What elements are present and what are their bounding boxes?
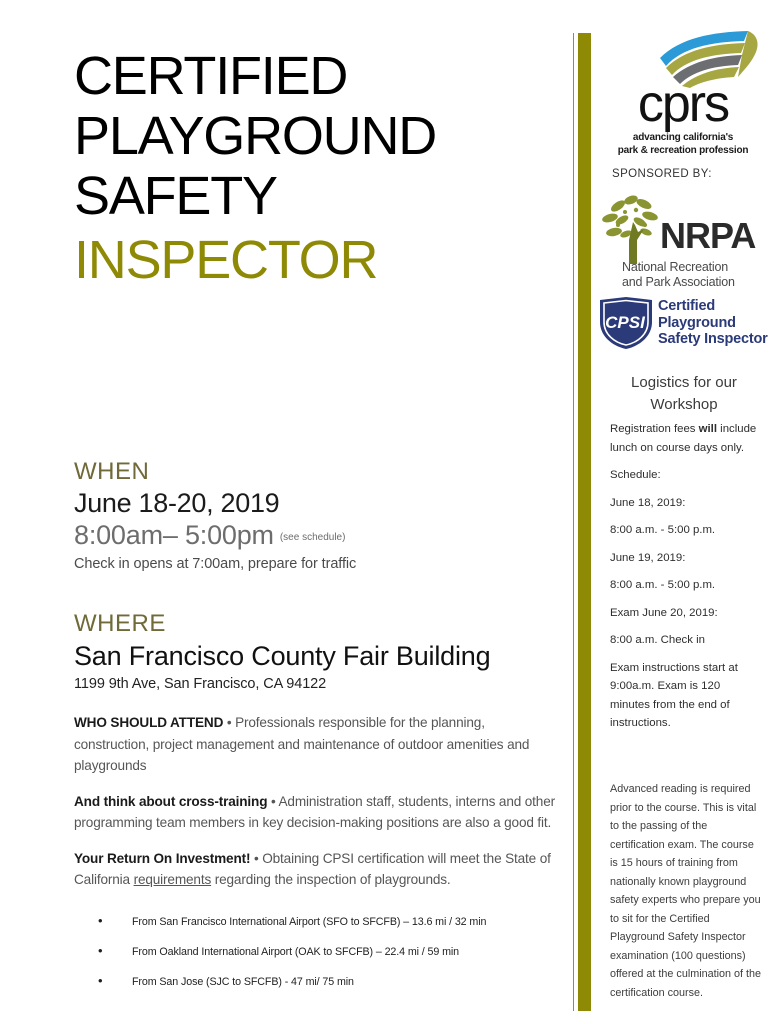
nrpa-subtitle: National Recreation and Park Association xyxy=(598,260,770,289)
paragraph-cross-training: And think about cross-training • Adminis… xyxy=(74,791,561,834)
logistics-body: Registration fees will include lunch on … xyxy=(610,420,760,742)
list-item: From San Francisco International Airport… xyxy=(92,915,562,929)
logistics-item: June 19, 2019: xyxy=(610,549,760,568)
logistics-title-line1: Logistics for our xyxy=(602,372,766,394)
logistics-title-line2: Workshop xyxy=(602,394,766,416)
svg-text:CPSI: CPSI xyxy=(605,313,646,332)
logistics-item-bold: will xyxy=(699,423,717,435)
page-title: CERTIFIED PLAYGROUND SAFETY INSPECTOR xyxy=(74,46,554,290)
cprs-tagline-line2: park & recreation profession xyxy=(596,145,770,158)
flyer-page: CERTIFIED PLAYGROUND SAFETY INSPECTOR WH… xyxy=(0,0,770,1024)
advanced-reading-note: Advanced reading is required prior to th… xyxy=(610,780,762,1002)
left-column: CERTIFIED PLAYGROUND SAFETY INSPECTOR WH… xyxy=(0,0,575,1024)
logistics-item: 8:00 a.m. - 5:00 p.m. xyxy=(610,576,760,595)
list-item: From San Jose (SJC to SFCFB) - 47 mi/ 75… xyxy=(92,975,562,989)
logistics-item: Exam June 20, 2019: xyxy=(610,604,760,623)
when-time: 8:00am– 5:00pm(see schedule) xyxy=(74,519,554,554)
paragraph-lead: And think about cross-training xyxy=(74,794,267,809)
cpsi-line2: Playground xyxy=(658,315,768,332)
title-line-certified: CERTIFIED xyxy=(74,46,554,106)
cprs-tagline: advancing california's park & recreation… xyxy=(596,132,770,157)
list-item: From Oakland International Airport (OAK … xyxy=(92,945,562,959)
logistics-item: June 18, 2019: xyxy=(610,494,760,513)
paragraph-body-post: regarding the inspection of playgrounds. xyxy=(211,872,450,887)
cpsi-text: Certified Playground Safety Inspector xyxy=(658,298,768,348)
description-paragraphs: WHO SHOULD ATTEND • Professionals respon… xyxy=(74,712,561,905)
when-section: WHEN June 18-20, 2019 8:00am– 5:00pm(see… xyxy=(74,458,554,574)
logistics-title: Logistics for our Workshop xyxy=(602,372,766,416)
title-line-playground: PLAYGROUND xyxy=(74,106,554,166)
cpsi-logo: CPSI Certified Playground Safety Inspect… xyxy=(596,296,770,352)
cprs-logo: cprs advancing california's park & recre… xyxy=(596,30,770,157)
title-line-inspector: INSPECTOR xyxy=(74,230,554,290)
see-schedule-note: (see schedule) xyxy=(280,532,346,543)
when-kicker: WHEN xyxy=(74,458,554,486)
where-kicker: WHERE xyxy=(74,610,574,638)
paragraph-lead: WHO SHOULD ATTEND xyxy=(74,715,223,730)
cpsi-line3: Safety Inspector xyxy=(658,331,768,348)
sponsored-by-label: SPONSORED BY: xyxy=(612,168,712,180)
when-checkin-note: Check in opens at 7:00am, prepare for tr… xyxy=(74,555,554,574)
cprs-tagline-line1: advancing california's xyxy=(596,132,770,145)
logistics-item: Schedule: xyxy=(610,466,760,485)
where-section: WHERE San Francisco County Fair Building… xyxy=(74,610,574,693)
where-venue: San Francisco County Fair Building xyxy=(74,639,574,673)
logistics-item: 8:00 a.m. - 5:00 p.m. xyxy=(610,521,760,540)
paragraph-return-on-investment: Your Return On Investment! • Obtaining C… xyxy=(74,848,561,891)
logistics-item: Exam instructions start at 9:00a.m. Exam… xyxy=(610,659,760,733)
nrpa-wordmark: NRPA xyxy=(660,218,755,254)
shield-icon: CPSI xyxy=(598,296,654,350)
paragraph-who-should-attend: WHO SHOULD ATTEND • Professionals respon… xyxy=(74,712,561,777)
when-date: June 18-20, 2019 xyxy=(74,487,554,519)
when-time-value: 8:00am– 5:00pm xyxy=(74,520,274,550)
logistics-item: 8:00 a.m. Check in xyxy=(610,631,760,650)
nrpa-subtitle-line2: and Park Association xyxy=(622,275,770,290)
where-address: 1199 9th Ave, San Francisco, CA 94122 xyxy=(74,675,574,693)
cprs-wordmark: cprs xyxy=(596,78,770,130)
vertical-divider xyxy=(578,33,591,1011)
right-sidebar: cprs advancing california's park & recre… xyxy=(596,0,770,1024)
title-line-safety: SAFETY xyxy=(74,166,554,226)
cpsi-line1: Certified xyxy=(658,298,768,315)
nrpa-logo: NRPA National Recreation and Park Associ… xyxy=(598,192,770,289)
requirements-link[interactable]: requirements xyxy=(134,872,212,887)
travel-bullet-list: From San Francisco International Airport… xyxy=(92,915,562,1005)
logistics-item-pre: Registration fees xyxy=(610,423,699,435)
paragraph-lead: Your Return On Investment! xyxy=(74,851,250,866)
nrpa-logo-row: NRPA xyxy=(598,192,770,264)
tree-icon xyxy=(600,192,662,264)
logistics-item: Registration fees will include lunch on … xyxy=(610,420,760,457)
